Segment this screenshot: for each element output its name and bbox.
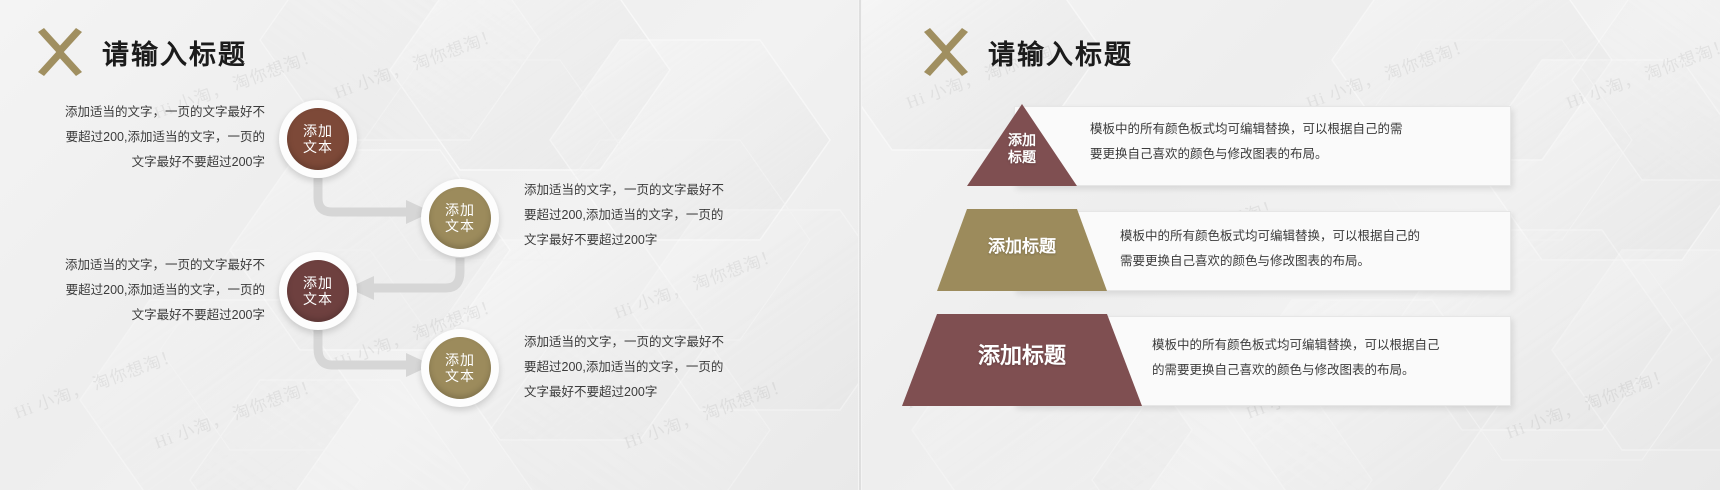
flow-text-2-line2: 要超过200,添加适当的文字，一页的 bbox=[524, 203, 754, 228]
flow-node-3-fill: 添加 文本 bbox=[287, 260, 349, 322]
pyramid-tier-1-label-line1: 添加 bbox=[967, 132, 1077, 149]
flow-node-2-label-line1: 添加 bbox=[445, 202, 475, 218]
flow-node-3-label-line2: 文本 bbox=[303, 291, 333, 307]
watermark-text: Hi 小淘， 淘你想淘！ bbox=[1302, 31, 1474, 114]
slide-left-header: 请输入标题 bbox=[34, 26, 247, 78]
pyramid-text-2-line1: 模板中的所有颜色板式均可编辑替换，可以根据自己的 bbox=[1120, 224, 1510, 249]
page-title: 请输入标题 bbox=[988, 33, 1133, 72]
flow-text-2-line1: 添加适当的文字，一页的文字最好不 bbox=[524, 178, 754, 203]
pyramid-text-2-line2: 需要更换自己喜欢的颜色与修改图表的布局。 bbox=[1120, 249, 1510, 274]
flow-text-1-line2: 要超过200,添加适当的文字，一页的 bbox=[40, 125, 265, 150]
pyramid-tier-1-label-line2: 标题 bbox=[967, 149, 1077, 166]
pyramid-tier-2-label-line1: 添加标题 bbox=[937, 237, 1107, 257]
pyramid-text-3-line2: 的需要更换自己喜欢的颜色与修改图表的布局。 bbox=[1152, 358, 1512, 383]
watermark-text: Hi 小淘， 淘你想淘！ bbox=[10, 341, 182, 424]
flow-node-1[interactable]: 添加 文本 bbox=[279, 100, 357, 178]
slide-left: Hi 小淘， 淘你想淘！ Hi 小淘， 淘你想淘！ Hi 小淘， 淘你想淘！ H… bbox=[0, 0, 858, 490]
watermark-text: Hi 小淘， 淘你想淘！ bbox=[1562, 31, 1720, 114]
pyramid-tier-1-label: 添加 标题 bbox=[967, 132, 1077, 166]
pyramid-tier-2-label: 添加标题 bbox=[937, 237, 1107, 257]
x-burst-icon bbox=[34, 26, 86, 78]
flow-text-4-line2: 要超过200,添加适当的文字，一页的 bbox=[524, 355, 754, 380]
flow-text-1-line3: 文字最好不要超过200字 bbox=[40, 150, 265, 175]
pyramid-text-1: 模板中的所有颜色板式均可编辑替换，可以根据自己的需 要更换自己喜欢的颜色与修改图… bbox=[1090, 117, 1500, 167]
flow-node-3[interactable]: 添加 文本 bbox=[279, 252, 357, 330]
watermark-text: Hi 小淘， 淘你想淘！ bbox=[1502, 361, 1674, 444]
flow-node-4[interactable]: 添加 文本 bbox=[421, 329, 499, 407]
flow-node-2-label-line2: 文本 bbox=[445, 218, 475, 234]
page-title: 请输入标题 bbox=[102, 33, 247, 72]
pyramid-tier-3-label-line1: 添加标题 bbox=[902, 343, 1142, 369]
flow-text-3: 添加适当的文字，一页的文字最好不 要超过200,添加适当的文字，一页的 文字最好… bbox=[40, 253, 265, 328]
slide-deck-canvas: Hi 小淘， 淘你想淘！ Hi 小淘， 淘你想淘！ Hi 小淘， 淘你想淘！ H… bbox=[0, 0, 1720, 490]
flow-text-4-line3: 文字最好不要超过200字 bbox=[524, 380, 754, 405]
x-burst-icon bbox=[920, 26, 972, 78]
flow-node-2[interactable]: 添加 文本 bbox=[421, 179, 499, 257]
flow-node-2-fill: 添加 文本 bbox=[429, 187, 491, 249]
flow-text-1-line1: 添加适当的文字，一页的文字最好不 bbox=[40, 100, 265, 125]
pyramid-text-3-line1: 模板中的所有颜色板式均可编辑替换，可以根据自己 bbox=[1152, 333, 1512, 358]
flow-text-3-line3: 文字最好不要超过200字 bbox=[40, 303, 265, 328]
flow-node-1-fill: 添加 文本 bbox=[287, 108, 349, 170]
flow-node-4-label-line1: 添加 bbox=[445, 352, 475, 368]
flow-text-1: 添加适当的文字，一页的文字最好不 要超过200,添加适当的文字，一页的 文字最好… bbox=[40, 100, 265, 175]
pyramid-text-1-line2: 要更换自己喜欢的颜色与修改图表的布局。 bbox=[1090, 142, 1500, 167]
flow-text-3-line2: 要超过200,添加适当的文字，一页的 bbox=[40, 278, 265, 303]
flow-node-3-label-line1: 添加 bbox=[303, 275, 333, 291]
flow-node-1-label-line1: 添加 bbox=[303, 123, 333, 139]
pyramid-text-3: 模板中的所有颜色板式均可编辑替换，可以根据自己 的需要更换自己喜欢的颜色与修改图… bbox=[1152, 333, 1512, 383]
pyramid-tier-3-label: 添加标题 bbox=[902, 343, 1142, 369]
watermark-text: Hi 小淘， 淘你想淘！ bbox=[150, 371, 322, 454]
watermark-text: Hi 小淘， 淘你想淘！ bbox=[330, 21, 502, 104]
watermark-text: Hi 小淘， 淘你想淘！ bbox=[610, 241, 782, 324]
flow-node-1-label-line2: 文本 bbox=[303, 139, 333, 155]
flow-text-3-line1: 添加适当的文字，一页的文字最好不 bbox=[40, 253, 265, 278]
flow-node-4-fill: 添加 文本 bbox=[429, 337, 491, 399]
flow-node-4-label-line2: 文本 bbox=[445, 368, 475, 384]
pyramid-text-1-line1: 模板中的所有颜色板式均可编辑替换，可以根据自己的需 bbox=[1090, 117, 1500, 142]
flow-text-2-line3: 文字最好不要超过200字 bbox=[524, 228, 754, 253]
flow-text-4: 添加适当的文字，一页的文字最好不 要超过200,添加适当的文字，一页的 文字最好… bbox=[524, 330, 754, 405]
pyramid-text-2: 模板中的所有颜色板式均可编辑替换，可以根据自己的 需要更换自己喜欢的颜色与修改图… bbox=[1120, 224, 1510, 274]
slide-right-header: 请输入标题 bbox=[862, 26, 1133, 78]
flow-text-2: 添加适当的文字，一页的文字最好不 要超过200,添加适当的文字，一页的 文字最好… bbox=[524, 178, 754, 253]
flow-text-4-line1: 添加适当的文字，一页的文字最好不 bbox=[524, 330, 754, 355]
slide-right: Hi 小淘， 淘你想淘！ Hi 小淘， 淘你想淘！ Hi 小淘， 淘你想淘！ H… bbox=[862, 0, 1720, 490]
